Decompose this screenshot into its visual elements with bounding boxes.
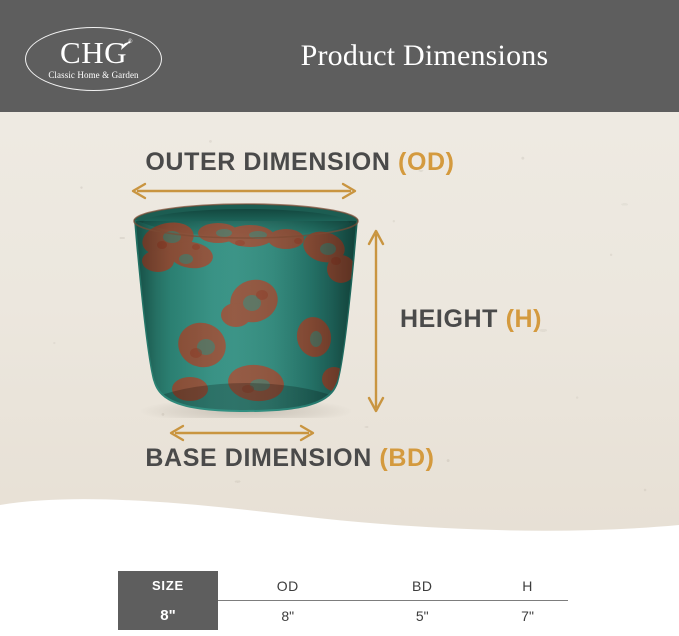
header-bar: CHG ® Classic Home & Garden Product Dime… <box>0 0 679 112</box>
cell-od: 8" <box>218 601 357 631</box>
height-dimension-arrow <box>364 224 388 418</box>
cell-h: 7" <box>487 601 568 631</box>
table-header-h: H <box>487 571 568 601</box>
base-dimension-arrow <box>163 422 321 444</box>
table-row: 8" 8" 5" 7" <box>118 601 568 631</box>
outer-dimension-label-tag: (OD) <box>398 148 455 176</box>
height-label-tag: (H) <box>506 305 543 333</box>
outer-dimension-arrow <box>125 180 363 202</box>
base-dimension-label-tag: (BD) <box>379 444 434 472</box>
outer-dimension-label: OUTER DIMENSION (OD) <box>0 148 600 177</box>
height-label-text: HEIGHT <box>400 305 506 333</box>
table-header-bd: BD <box>357 571 487 601</box>
product-dimensions-infographic: CHG ® Classic Home & Garden Product Dime… <box>0 0 679 636</box>
table-header-row: SIZE OD BD H <box>118 571 568 601</box>
logo-tagline: Classic Home & Garden <box>25 71 162 80</box>
base-dimension-label-text: BASE DIMENSION <box>145 444 379 472</box>
registered-trademark-icon: ® <box>128 39 133 45</box>
base-dimension-label: BASE DIMENSION (BD) <box>0 444 580 473</box>
outer-dimension-label-text: OUTER DIMENSION <box>145 148 398 176</box>
logo-mark-text: CHG <box>25 37 162 68</box>
planter-pot-image <box>128 203 364 418</box>
table-header-size: SIZE <box>118 571 218 601</box>
table-header-od: OD <box>218 571 357 601</box>
spec-table: SIZE OD BD H 8" 8" 5" 7" <box>118 571 568 630</box>
chg-logo: CHG ® Classic Home & Garden <box>25 27 164 93</box>
page-title: Product Dimensions <box>170 0 679 112</box>
cell-size: 8" <box>118 601 218 631</box>
height-label: HEIGHT (H) <box>400 305 542 334</box>
cell-bd: 5" <box>357 601 487 631</box>
